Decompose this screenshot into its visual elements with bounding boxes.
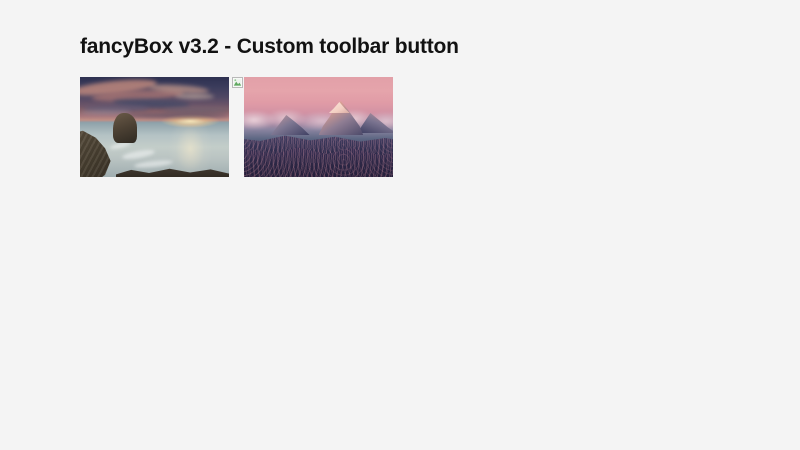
gallery	[80, 77, 400, 177]
gallery-thumb-2[interactable]	[244, 77, 393, 177]
broken-image-icon	[232, 77, 243, 88]
sea-stack-rock	[113, 113, 137, 143]
surf-streak	[133, 159, 172, 169]
page-title: fancyBox v3.2 - Custom toolbar button	[80, 35, 459, 59]
snow-cap	[329, 102, 350, 113]
thumb-1-figure	[80, 77, 229, 177]
gallery-thumb-1[interactable]	[80, 77, 229, 177]
thumb-2-figure	[244, 77, 393, 177]
page-root: fancyBox v3.2 - Custom toolbar button	[0, 0, 800, 450]
mountain-alpenglow-photo	[244, 77, 393, 177]
coast-sunset-photo	[80, 77, 229, 177]
surf-streak	[121, 148, 154, 161]
